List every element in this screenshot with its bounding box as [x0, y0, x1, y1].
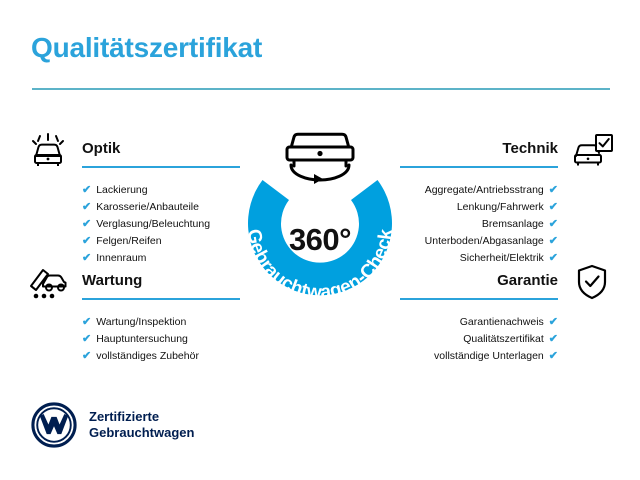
list-item: ✔Wartung/Inspektion	[82, 314, 235, 331]
section-wartung-list: ✔Wartung/Inspektion ✔Hauptuntersuchung ✔…	[25, 314, 235, 365]
list-item: ✔Verglasung/Beleuchtung	[82, 216, 235, 233]
list-item: Unterboden/Abgasanlage✔	[405, 233, 558, 250]
check-icon: ✔	[82, 199, 91, 216]
list-item-label: Garantienachweis	[460, 314, 544, 331]
shiny-car-icon	[25, 130, 71, 170]
list-item-label: Felgen/Reifen	[96, 233, 161, 250]
section-optik-list: ✔Lackierung ✔Karosserie/Anbauteile ✔Verg…	[25, 182, 235, 267]
list-item: Bremsanlage✔	[405, 216, 558, 233]
section-garantie: Garantie Garantienachweis✔ Qualitätszert…	[405, 262, 615, 365]
footer-line-1: Zertifizierte	[89, 409, 194, 425]
check-icon: ✔	[82, 314, 91, 331]
check-icon: ✔	[549, 314, 558, 331]
list-item: ✔Felgen/Reifen	[82, 233, 235, 250]
service-record-car-icon	[25, 262, 71, 302]
section-wartung: Wartung ✔Wartung/Inspektion ✔Hauptunters…	[25, 262, 235, 365]
section-garantie-title: Garantie	[497, 272, 558, 289]
section-optik-title: Optik	[82, 140, 120, 157]
list-item-label: Lackierung	[96, 182, 147, 199]
list-item-label: Karosserie/Anbauteile	[96, 199, 199, 216]
section-technik-list: Aggregate/Antriebsstrang✔ Lenkung/Fahrwe…	[405, 182, 615, 267]
check-icon: ✔	[549, 199, 558, 216]
list-item: vollständige Unterlagen✔	[405, 348, 558, 365]
section-optik-divider	[82, 166, 235, 168]
car-checkbox-icon	[569, 130, 615, 170]
list-item: ✔Hauptuntersuchung	[82, 331, 235, 348]
check-icon: ✔	[549, 348, 558, 365]
list-item: Garantienachweis✔	[405, 314, 558, 331]
list-item-label: Qualitätszertifikat	[463, 331, 544, 348]
list-item: ✔Karosserie/Anbauteile	[82, 199, 235, 216]
section-wartung-divider	[82, 298, 235, 300]
list-item: Qualitätszertifikat✔	[405, 331, 558, 348]
check-icon: ✔	[82, 233, 91, 250]
list-item: ✔vollständiges Zubehör	[82, 348, 235, 365]
section-technik-title: Technik	[502, 140, 558, 157]
footer-text: Zertifizierte Gebrauchtwagen	[89, 409, 194, 441]
badge-360-gebrauchtwagen-check: Gebrauchtwagen-Check 360°	[225, 118, 415, 318]
list-item: ✔Lackierung	[82, 182, 235, 199]
car-rotation-icon	[287, 134, 353, 184]
shield-check-icon	[569, 262, 615, 302]
list-item-label: Aggregate/Antriebsstrang	[425, 182, 544, 199]
section-garantie-divider	[405, 298, 558, 300]
footer-line-2: Gebrauchtwagen	[89, 425, 194, 441]
section-technik-header: Technik	[405, 130, 615, 176]
list-item-label: vollständige Unterlagen	[434, 348, 544, 365]
list-item-label: vollständiges Zubehör	[96, 348, 199, 365]
check-icon: ✔	[549, 216, 558, 233]
check-icon: ✔	[82, 182, 91, 199]
list-item-label: Wartung/Inspektion	[96, 314, 186, 331]
list-item-label: Hauptuntersuchung	[96, 331, 188, 348]
check-icon: ✔	[82, 216, 91, 233]
check-icon: ✔	[549, 331, 558, 348]
check-icon: ✔	[549, 233, 558, 250]
section-optik-header: Optik	[25, 130, 235, 176]
page-title: Qualitätszertifikat	[31, 32, 262, 64]
title-divider	[32, 88, 610, 90]
list-item-label: Lenkung/Fahrwerk	[457, 199, 544, 216]
check-icon: ✔	[549, 182, 558, 199]
list-item-label: Verglasung/Beleuchtung	[96, 216, 210, 233]
check-icon: ✔	[82, 348, 91, 365]
section-technik: Technik Aggregate/Antriebsstrang✔ Lenkun…	[405, 130, 615, 267]
check-icon: ✔	[82, 331, 91, 348]
section-technik-divider	[405, 166, 558, 168]
section-optik: Optik ✔Lackierung ✔Karosserie/Anbauteile…	[25, 130, 235, 267]
list-item-label: Bremsanlage	[482, 216, 544, 233]
badge-value: 360°	[225, 222, 415, 258]
section-wartung-title: Wartung	[82, 272, 142, 289]
list-item: Aggregate/Antriebsstrang✔	[405, 182, 558, 199]
list-item-label: Unterboden/Abgasanlage	[425, 233, 544, 250]
vw-logo	[31, 402, 77, 448]
section-wartung-header: Wartung	[25, 262, 235, 308]
list-item: Lenkung/Fahrwerk✔	[405, 199, 558, 216]
footer: Zertifizierte Gebrauchtwagen	[31, 402, 194, 448]
section-garantie-list: Garantienachweis✔ Qualitätszertifikat✔ v…	[405, 314, 615, 365]
section-garantie-header: Garantie	[405, 262, 615, 308]
